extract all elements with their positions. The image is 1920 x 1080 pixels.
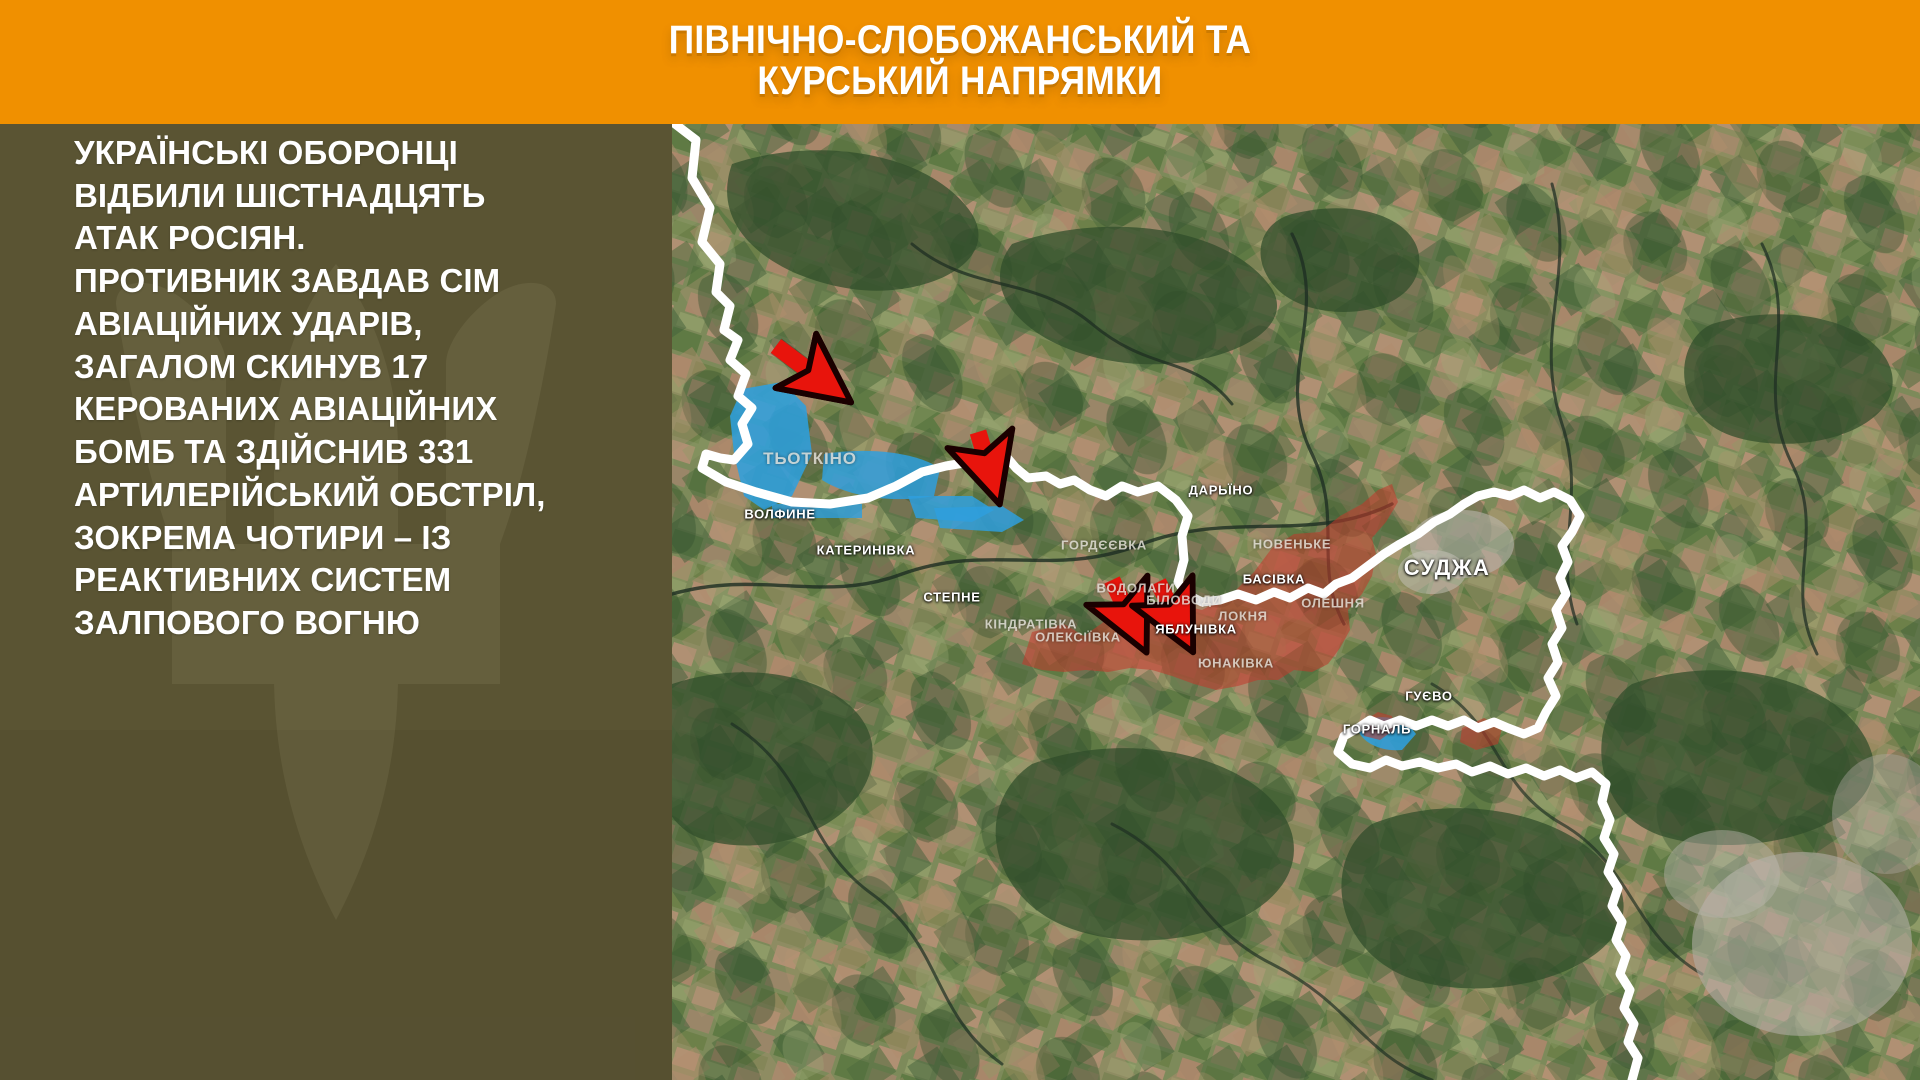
- summary-panel: УКРАЇНСЬКІ ОБОРОНЦІ ВІДБИЛИ ШІСТНАДЦЯТЬ …: [0, 124, 672, 1080]
- tactical-map[interactable]: ТЬОТКІНОВОЛФИНЕКАТЕРИНІВКАСТЕПНЕДАРЬЇНОГ…: [672, 124, 1920, 1080]
- header-banner: ПІВНІЧНО-СЛОБОЖАНСЬКИЙ ТА КУРСЬКИЙ НАПРЯ…: [0, 0, 1920, 124]
- page-title: ПІВНІЧНО-СЛОБОЖАНСЬКИЙ ТА КУРСЬКИЙ НАПРЯ…: [669, 20, 1252, 104]
- attack-arrow-stepne: [978, 432, 990, 472]
- map-canvas: [672, 124, 1920, 1080]
- panel-shade-band: [0, 730, 672, 1080]
- summary-text: УКРАЇНСЬКІ ОБОРОНЦІ ВІДБИЛИ ШІСТНАДЦЯТЬ …: [74, 132, 634, 645]
- infographic-root: ПІВНІЧНО-СЛОБОЖАНСЬКИЙ ТА КУРСЬКИЙ НАПРЯ…: [0, 0, 1920, 1080]
